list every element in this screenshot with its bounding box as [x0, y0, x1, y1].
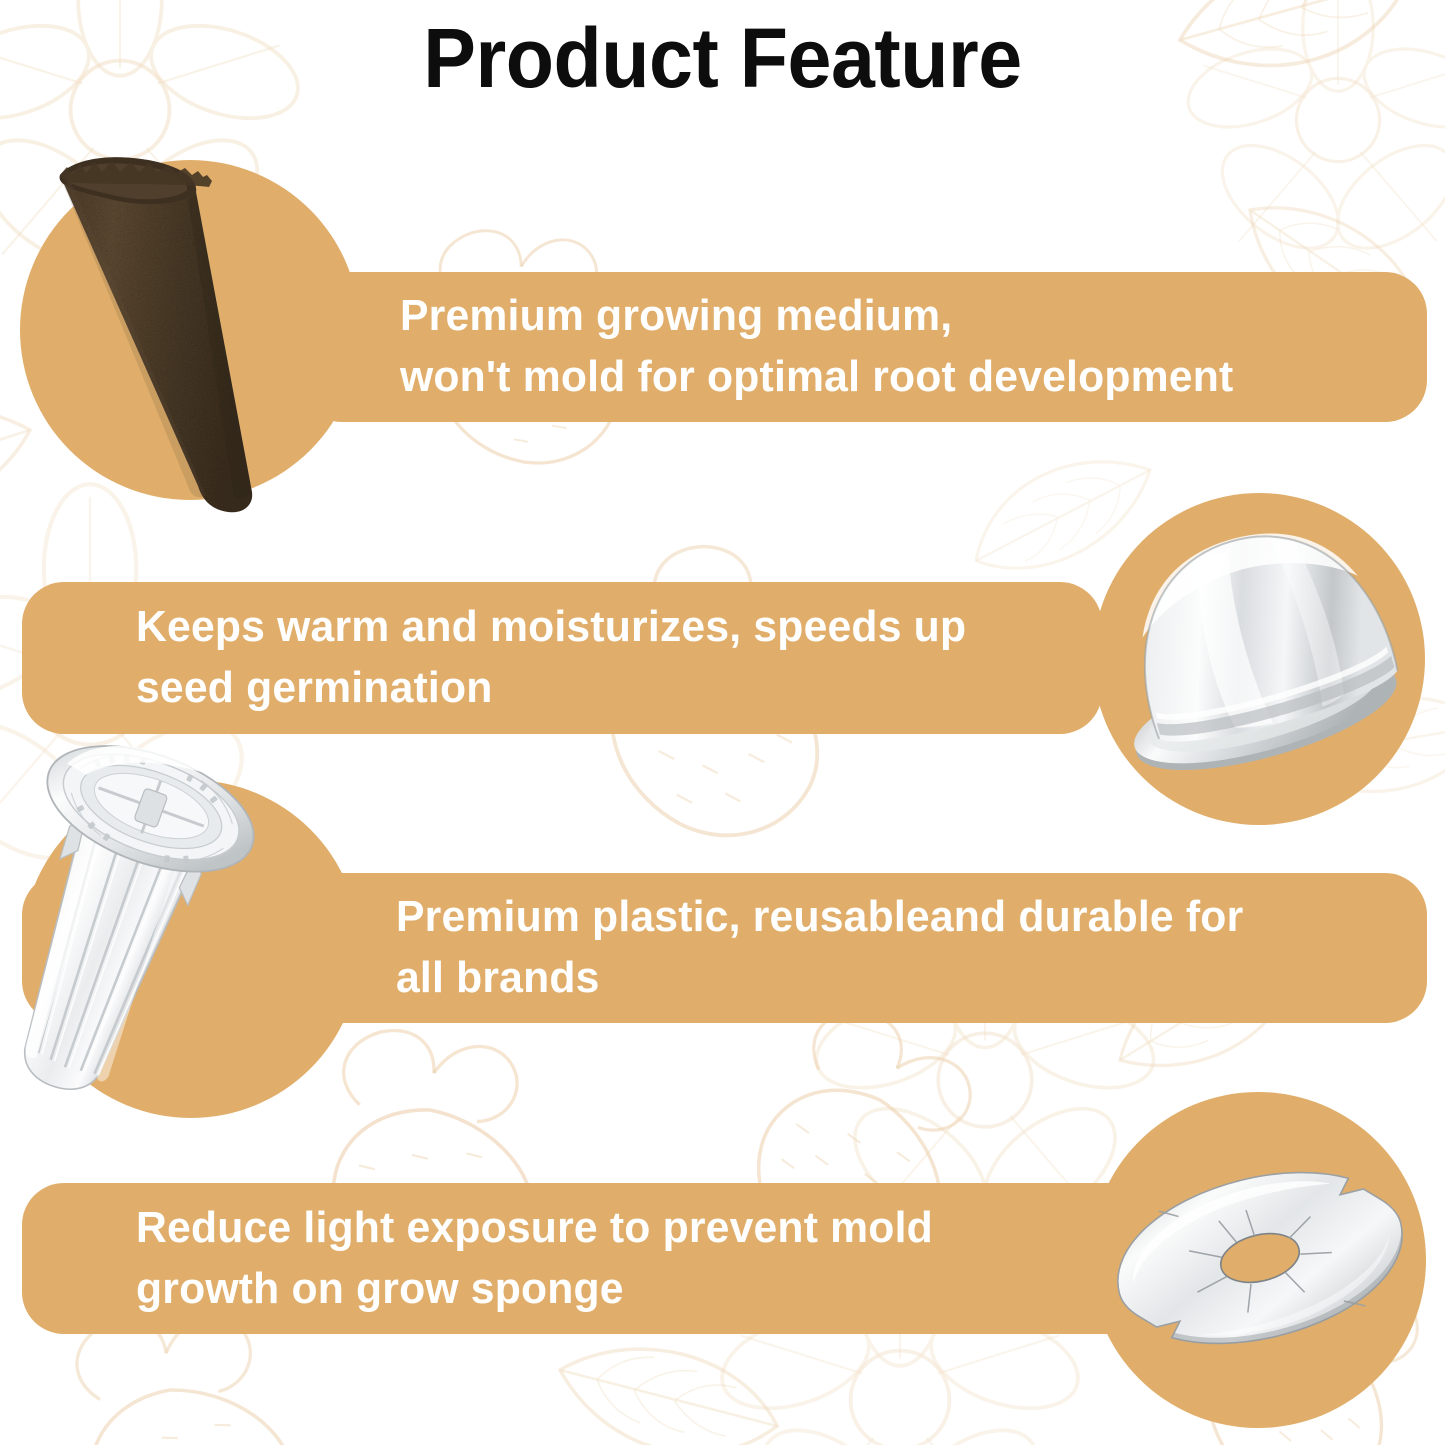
page-title: Product Feature: [43, 14, 1401, 102]
feature-4-text: Reduce light exposure to prevent mold gr…: [136, 1198, 933, 1319]
feature-2-bar: Keeps warm and moisturizes, speeds up se…: [22, 582, 1102, 734]
feature-2-circle: [1093, 493, 1425, 825]
feature-3-text: Premium plastic, reusableand durable for…: [396, 887, 1243, 1008]
feature-2-text: Keeps warm and moisturizes, speeds up se…: [136, 597, 966, 718]
feature-3-bar: Premium plastic, reusableand durable for…: [22, 873, 1427, 1023]
product-feature-infographic: Product Feature Premium growing medium, …: [0, 0, 1445, 1445]
feature-4-bar: Reduce light exposure to prevent mold gr…: [22, 1183, 1202, 1334]
feature-1-bar: Premium growing medium, won't mold for o…: [300, 272, 1427, 422]
feature-1-text: Premium growing medium, won't mold for o…: [400, 286, 1233, 407]
